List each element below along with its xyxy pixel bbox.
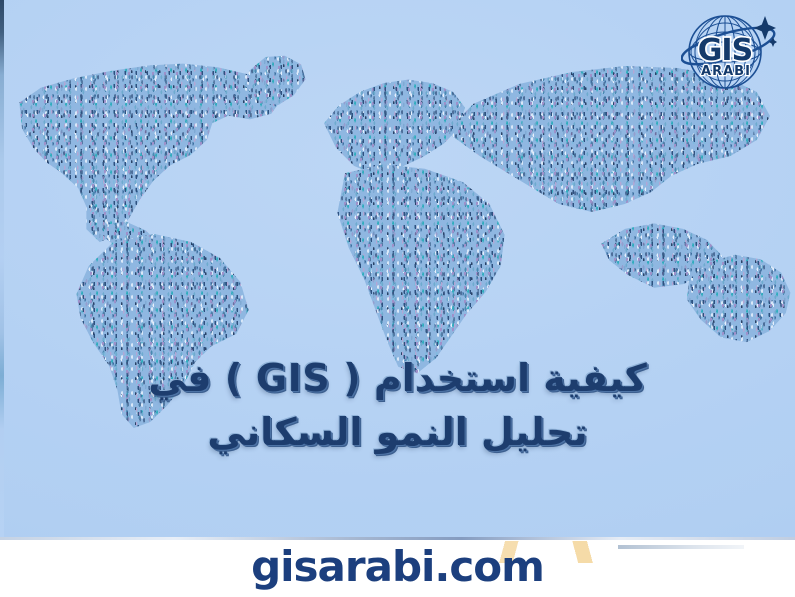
svg-text:GIS: GIS [698,33,752,68]
svg-text:ARABI: ARABI [701,64,751,79]
continent-africa [326,160,516,380]
page-title: كيفية استخدام ( GIS ) في تحليل النمو الس… [0,352,795,460]
artwork-stage: GIS ARABI كيفية استخدام ( GIS ) في تحليل… [0,0,795,537]
gis-arabi-logo[interactable]: GIS ARABI [681,6,777,98]
banner-divider-rule [0,537,795,540]
website-url[interactable]: gisarabi.com [0,546,795,588]
continent-north-america [14,58,282,244]
website-banner: gisarabi.com [0,537,795,597]
poster: GIS ARABI كيفية استخدام ( GIS ) في تحليل… [0,0,795,597]
